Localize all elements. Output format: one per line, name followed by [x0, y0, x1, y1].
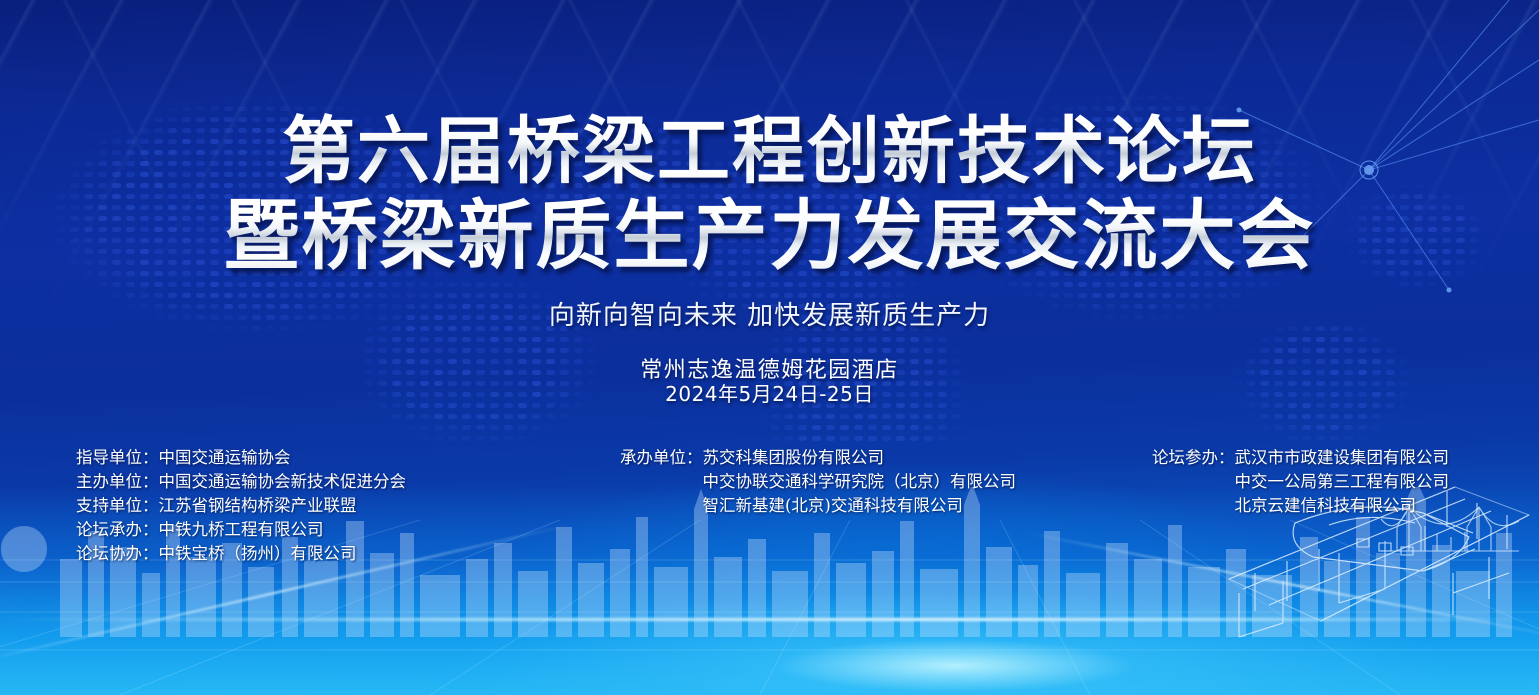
- sponsor-values: 武汉市市政建设集团有限公司中交一公局第三工程有限公司北京云建信科技有限公司: [1235, 446, 1450, 518]
- banner-subtitle: 向新向智向未来 加快发展新质生产力: [0, 295, 1539, 332]
- sponsor-row: 指导单位：中国交通运输协会: [76, 446, 406, 470]
- banner-title-block: 第六届桥梁工程创新技术论坛 暨桥梁新质生产力发展交流大会: [0, 110, 1539, 278]
- sponsor-value: 武汉市市政建设集团有限公司: [1235, 446, 1450, 470]
- sponsor-column-right: 论坛参办：武汉市市政建设集团有限公司中交一公局第三工程有限公司北京云建信科技有限…: [1152, 446, 1449, 518]
- sponsor-label: 论坛参办：: [1152, 446, 1235, 470]
- sponsor-values: 江苏省钢结构桥梁产业联盟: [159, 494, 357, 518]
- sponsor-value: 中国交通运输协会: [159, 446, 291, 470]
- sponsor-value: 江苏省钢结构桥梁产业联盟: [159, 494, 357, 518]
- sponsor-value: 中国交通运输协会新技术促进分会: [159, 470, 407, 494]
- conference-banner: 第六届桥梁工程创新技术论坛 暨桥梁新质生产力发展交流大会 向新向智向未来 加快发…: [0, 0, 1539, 695]
- sponsor-row: 支持单位：江苏省钢结构桥梁产业联盟: [76, 494, 406, 518]
- title-line-2: 暨桥梁新质生产力发展交流大会: [0, 194, 1539, 278]
- sponsor-value: 智汇新基建(北京)交通科技有限公司: [703, 494, 1017, 518]
- sponsor-label: 承办单位：: [620, 446, 703, 470]
- sponsor-row: 主办单位：中国交通运输协会新技术促进分会: [76, 470, 406, 494]
- sponsor-values: 苏交科集团股份有限公司中交协联交通科学研究院（北京）有限公司智汇新基建(北京)交…: [703, 446, 1017, 518]
- sponsor-label: 支持单位：: [76, 494, 159, 518]
- sponsor-value: 中铁宝桥（扬州）有限公司: [159, 542, 357, 566]
- title-line-1: 第六届桥梁工程创新技术论坛: [0, 110, 1539, 194]
- sponsor-section: 指导单位：中国交通运输协会主办单位：中国交通运输协会新技术促进分会支持单位：江苏…: [0, 446, 1539, 566]
- sponsor-value: 北京云建信科技有限公司: [1235, 494, 1450, 518]
- event-dates: 2024年5月24日-25日: [0, 378, 1539, 407]
- sponsor-label: 论坛承办：: [76, 518, 159, 542]
- sponsor-values: 中铁九桥工程有限公司: [159, 518, 324, 542]
- sponsor-label: 论坛协办：: [76, 542, 159, 566]
- sponsor-column-left: 指导单位：中国交通运输协会主办单位：中国交通运输协会新技术促进分会支持单位：江苏…: [76, 446, 406, 566]
- sponsor-column-center: 承办单位：苏交科集团股份有限公司中交协联交通科学研究院（北京）有限公司智汇新基建…: [620, 446, 1016, 518]
- sponsor-row: 论坛协办：中铁宝桥（扬州）有限公司: [76, 542, 406, 566]
- sponsor-label: 指导单位：: [76, 446, 159, 470]
- sponsor-row: 论坛承办：中铁九桥工程有限公司: [76, 518, 406, 542]
- sponsor-row: 论坛参办：武汉市市政建设集团有限公司中交一公局第三工程有限公司北京云建信科技有限…: [1152, 446, 1449, 518]
- sponsor-values: 中国交通运输协会: [159, 446, 291, 470]
- sponsor-label: 主办单位：: [76, 470, 159, 494]
- sponsor-value: 中交协联交通科学研究院（北京）有限公司: [703, 470, 1017, 494]
- sponsor-row: 承办单位：苏交科集团股份有限公司中交协联交通科学研究院（北京）有限公司智汇新基建…: [620, 446, 1016, 518]
- sponsor-values: 中铁宝桥（扬州）有限公司: [159, 542, 357, 566]
- sponsor-value: 中铁九桥工程有限公司: [159, 518, 324, 542]
- sponsor-value: 苏交科集团股份有限公司: [703, 446, 1017, 470]
- sponsor-value: 中交一公局第三工程有限公司: [1235, 470, 1450, 494]
- sponsor-values: 中国交通运输协会新技术促进分会: [159, 470, 407, 494]
